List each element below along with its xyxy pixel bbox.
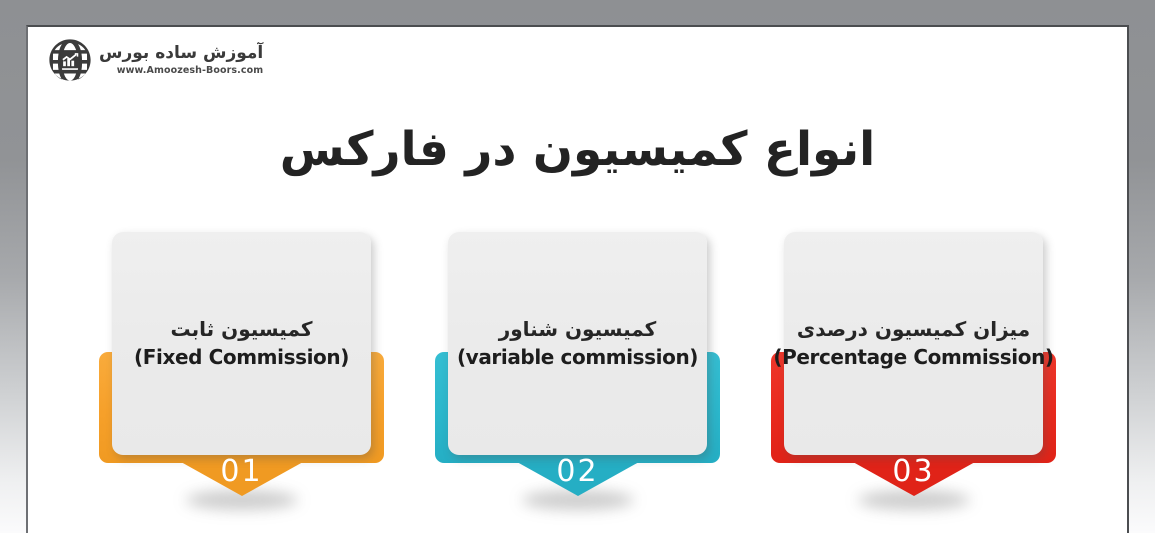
card-number: 02 xyxy=(435,454,720,489)
card-fixed-commission[interactable]: کمیسیون ثابت (Fixed Commission) 01 xyxy=(99,232,384,507)
globe-chart-icon xyxy=(48,38,92,82)
cards-row: کمیسیون ثابت (Fixed Commission) 01 کمیسی… xyxy=(28,232,1127,507)
card-label-en: (Fixed Commission) xyxy=(134,344,349,371)
page-content: آموزش ساده بورس www.Amoozesh-Boors.com ا… xyxy=(26,25,1129,533)
card-panel-text: میزان کمیسیون درصدی (Percentage Commissi… xyxy=(767,316,1059,371)
card-label-fa: کمیسیون ثابت xyxy=(134,316,349,343)
brand-text: آموزش ساده بورس www.Amoozesh-Boors.com xyxy=(99,45,263,76)
page-title: انواع کمیسیون در فارکس xyxy=(28,122,1127,177)
card-panel: میزان کمیسیون درصدی (Percentage Commissi… xyxy=(784,232,1043,455)
card-panel: کمیسیون شناور (variable commission) xyxy=(448,232,707,455)
card-panel-text: کمیسیون ثابت (Fixed Commission) xyxy=(128,316,355,371)
card-number: 03 xyxy=(771,454,1056,489)
brand-url: www.Amoozesh-Boors.com xyxy=(117,66,263,76)
card-number: 01 xyxy=(99,454,384,489)
card-variable-commission[interactable]: کمیسیون شناور (variable commission) 02 xyxy=(435,232,720,507)
card-label-en: (Percentage Commission) xyxy=(773,344,1053,371)
card-panel-text: کمیسیون شناور (variable commission) xyxy=(451,316,704,371)
card-percentage-commission[interactable]: میزان کمیسیون درصدی (Percentage Commissi… xyxy=(771,232,1056,507)
brand-logo: آموزش ساده بورس www.Amoozesh-Boors.com xyxy=(48,38,263,82)
card-label-en: (variable commission) xyxy=(457,344,698,371)
card-label-fa: میزان کمیسیون درصدی xyxy=(773,316,1053,343)
card-panel: کمیسیون ثابت (Fixed Commission) xyxy=(112,232,371,455)
card-label-fa: کمیسیون شناور xyxy=(457,316,698,343)
brand-name: آموزش ساده بورس xyxy=(99,45,263,62)
outer-frame: آموزش ساده بورس www.Amoozesh-Boors.com ا… xyxy=(0,0,1155,533)
